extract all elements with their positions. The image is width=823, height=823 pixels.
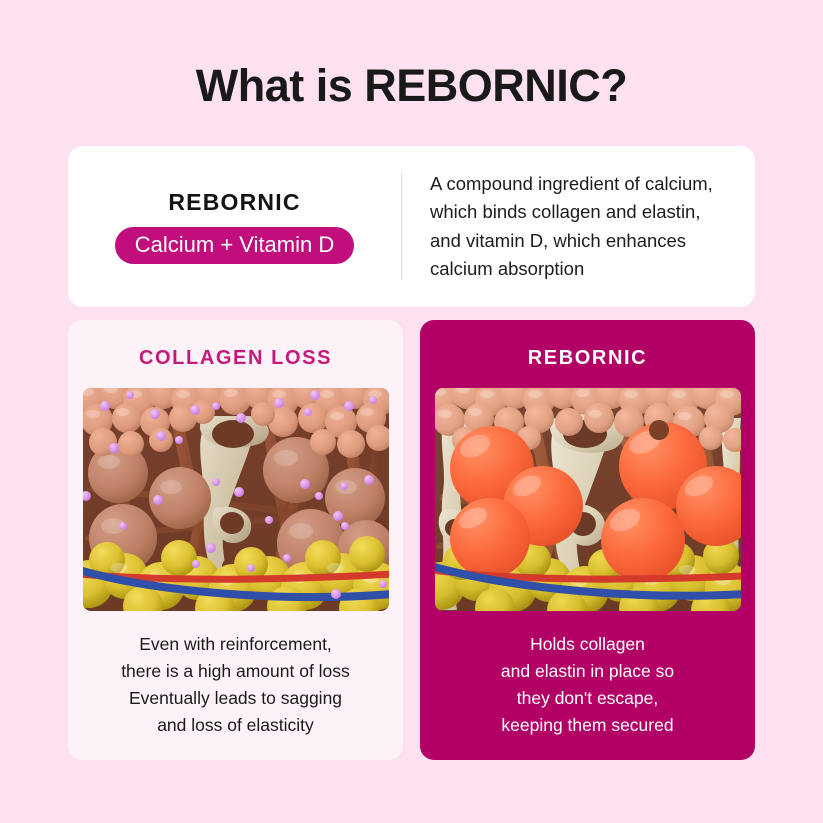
description-line: A compound ingredient of calcium, [430, 170, 737, 198]
caption-line: keeping them secured [434, 712, 741, 739]
info-card-description: A compound ingredient of calcium, which … [402, 170, 755, 282]
panel-heading-collagen-loss: COLLAGEN LOSS [68, 347, 403, 370]
description-line: which binds collagen and elastin, [430, 198, 737, 226]
description-line: calcium absorption [430, 255, 737, 283]
illustration-rebornic [435, 388, 741, 611]
caption-line: there is a high amount of loss [82, 658, 389, 685]
brand-label: REBORNIC [168, 189, 300, 216]
caption-line: they don't escape, [434, 685, 741, 712]
caption-line: Holds collagen [434, 631, 741, 658]
illustration-collagen-loss [83, 388, 389, 611]
caption-line: Eventually leads to sagging [82, 685, 389, 712]
caption-line: Even with reinforcement, [82, 631, 389, 658]
panel-rebornic: REBORNIC [420, 320, 755, 760]
info-card-left: REBORNIC Calcium + Vitamin D [68, 189, 401, 264]
panel-heading-rebornic: REBORNIC [420, 347, 755, 370]
info-card: REBORNIC Calcium + Vitamin D A compound … [68, 146, 755, 307]
description-line: and vitamin D, which enhances [430, 227, 737, 255]
ingredient-pill: Calcium + Vitamin D [115, 227, 355, 264]
infographic-page: What is REBORNIC? REBORNIC Calcium + Vit… [0, 0, 823, 823]
caption-line: and loss of elasticity [82, 712, 389, 739]
panel-caption-rebornic: Holds collagen and elastin in place so t… [420, 631, 755, 740]
panel-caption-collagen-loss: Even with reinforcement, there is a high… [68, 631, 403, 740]
page-title: What is REBORNIC? [0, 60, 823, 112]
panel-collagen-loss: COLLAGEN LOSS [68, 320, 403, 760]
caption-line: and elastin in place so [434, 658, 741, 685]
